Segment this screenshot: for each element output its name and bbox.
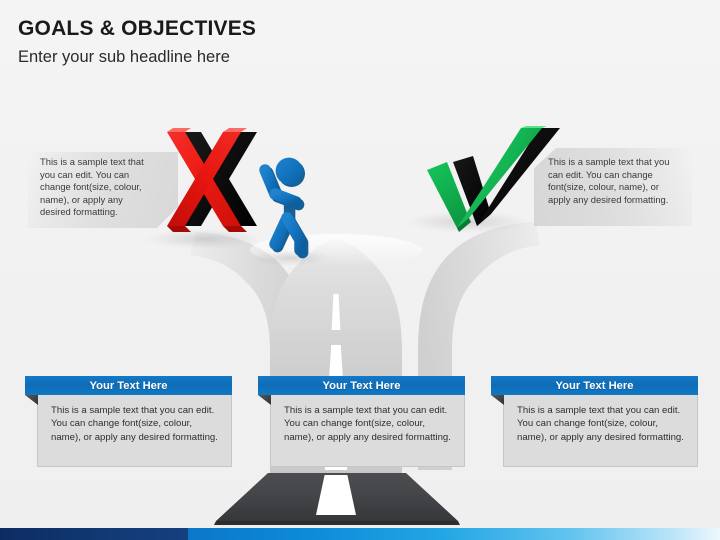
positive-path-note: This is a sample text that you can edit.… [534, 148, 692, 226]
callout-text: This is a sample text that you can edit.… [28, 152, 178, 219]
card-body-text: This is a sample text that you can edit.… [503, 395, 698, 467]
card-heading: Your Text Here [25, 376, 232, 395]
card-heading: Your Text Here [491, 376, 698, 395]
footer-bar-navy-segment [0, 528, 188, 540]
card-body-text: This is a sample text that you can edit.… [37, 395, 232, 467]
card-heading: Your Text Here [258, 376, 465, 395]
info-card[interactable]: Your Text Here This is a sample text tha… [491, 376, 698, 467]
slide-canvas: GOALS & OBJECTIVES Enter your sub headli… [0, 0, 720, 540]
negative-path-note: This is a sample text that you can edit.… [28, 152, 178, 228]
walking-person-icon [255, 150, 329, 262]
callout-text: This is a sample text that you can edit.… [534, 148, 692, 206]
card-body-text: This is a sample text that you can edit.… [270, 395, 465, 467]
footer-accent-bar [0, 528, 720, 540]
info-card[interactable]: Your Text Here This is a sample text tha… [25, 376, 232, 467]
footer-bar-blue-gradient [188, 528, 720, 540]
info-card[interactable]: Your Text Here This is a sample text tha… [258, 376, 465, 467]
